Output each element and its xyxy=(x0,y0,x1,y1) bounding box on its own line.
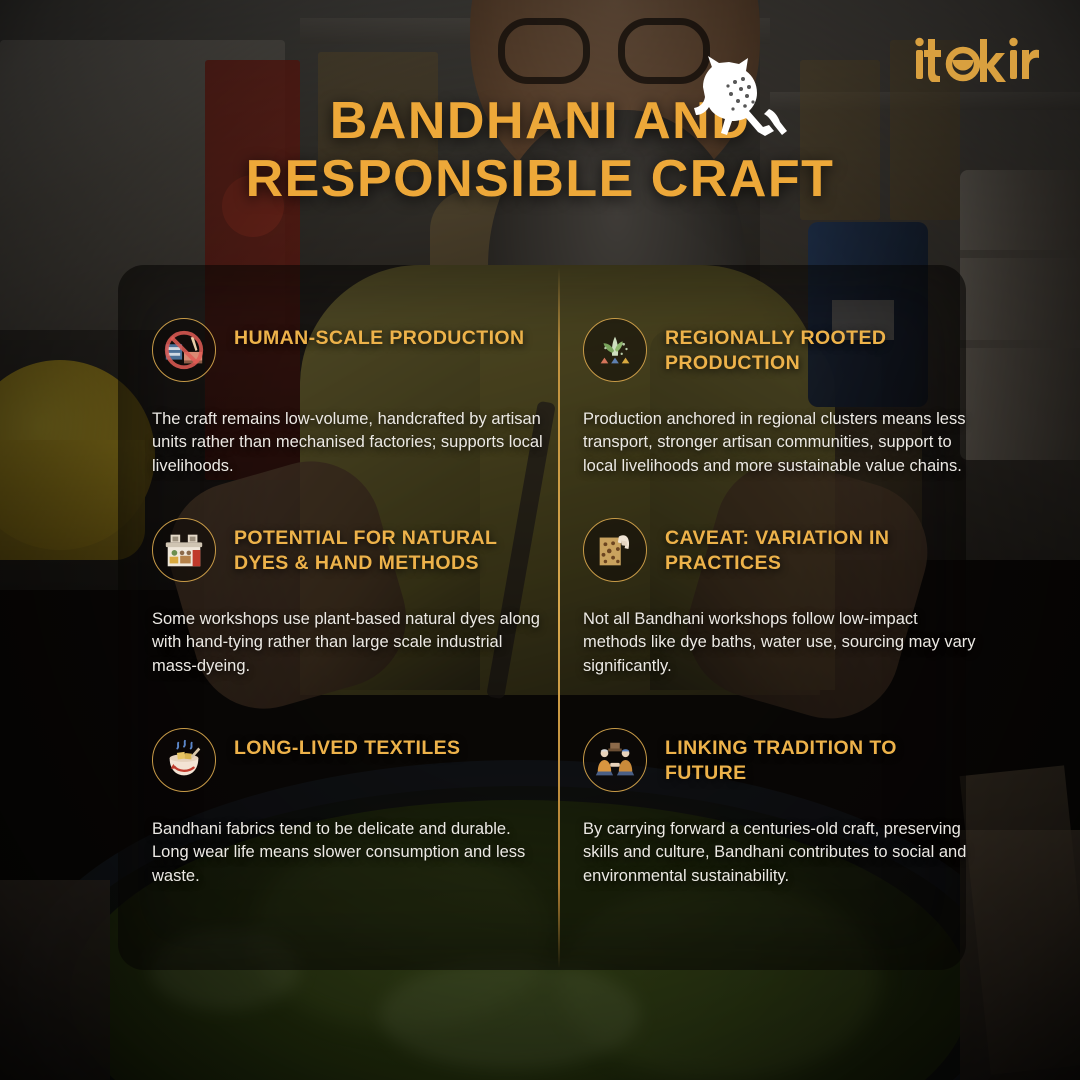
card-long-lived-textiles: LONG-LIVED TEXTILES Bandhani fabrics ten… xyxy=(152,728,547,888)
card-linking-tradition-to-future: LINKING TRADITION TO FUTURE By carrying … xyxy=(583,728,978,888)
column-divider xyxy=(558,268,560,968)
two-artisans-icon xyxy=(583,728,647,792)
card-title: LONG-LIVED TEXTILES xyxy=(234,728,460,761)
itokri-logo-icon xyxy=(914,36,1042,82)
sprout-soil-icon xyxy=(583,318,647,382)
card-header: CAVEAT: VARIATION IN PRACTICES xyxy=(583,518,978,582)
hand-fabric-swatch-icon xyxy=(583,518,647,582)
card-body: Bandhani fabrics tend to be delicate and… xyxy=(152,818,547,888)
card-body: Not all Bandhani workshops follow low-im… xyxy=(583,608,978,678)
card-title: POTENTIAL FOR NATURAL DYES & HAND METHOD… xyxy=(234,518,547,575)
card-title: REGIONALLY ROOTED PRODUCTION xyxy=(665,318,978,375)
card-title: HUMAN-SCALE PRODUCTION xyxy=(234,318,524,351)
workshop-building-icon xyxy=(152,518,216,582)
card-header: HUMAN-SCALE PRODUCTION xyxy=(152,318,547,382)
card-body: By carrying forward a centuries-old craf… xyxy=(583,818,978,888)
title-line-2: RESPONSIBLE CRAFT xyxy=(0,150,1080,208)
card-natural-dyes-hand-methods: POTENTIAL FOR NATURAL DYES & HAND METHOD… xyxy=(152,518,547,678)
card-human-scale-production: HUMAN-SCALE PRODUCTION The craft remains… xyxy=(152,318,547,478)
card-title: LINKING TRADITION TO FUTURE xyxy=(665,728,978,785)
brand-logo[interactable] xyxy=(914,36,1042,82)
page-title: BANDHANI AND RESPONSIBLE CRAFT xyxy=(0,92,1080,208)
title-line-1: BANDHANI AND xyxy=(0,92,1080,150)
cat-mascot-icon xyxy=(683,52,803,157)
card-header: POTENTIAL FOR NATURAL DYES & HAND METHOD… xyxy=(152,518,547,582)
card-caveat-variation-in-practices: CAVEAT: VARIATION IN PRACTICES Not all B… xyxy=(583,518,978,678)
card-body: Some workshops use plant-based natural d… xyxy=(152,608,547,678)
card-regionally-rooted-production: REGIONALLY ROOTED PRODUCTION Production … xyxy=(583,318,978,478)
card-header: REGIONALLY ROOTED PRODUCTION xyxy=(583,318,978,382)
no-factory-icon xyxy=(152,318,216,382)
card-body: Production anchored in regional clusters… xyxy=(583,408,978,478)
card-header: LINKING TRADITION TO FUTURE xyxy=(583,728,978,792)
card-title: CAVEAT: VARIATION IN PRACTICES xyxy=(665,518,978,575)
card-header: LONG-LIVED TEXTILES xyxy=(152,728,547,792)
steaming-dye-pot-icon xyxy=(152,728,216,792)
card-body: The craft remains low-volume, handcrafte… xyxy=(152,408,547,478)
